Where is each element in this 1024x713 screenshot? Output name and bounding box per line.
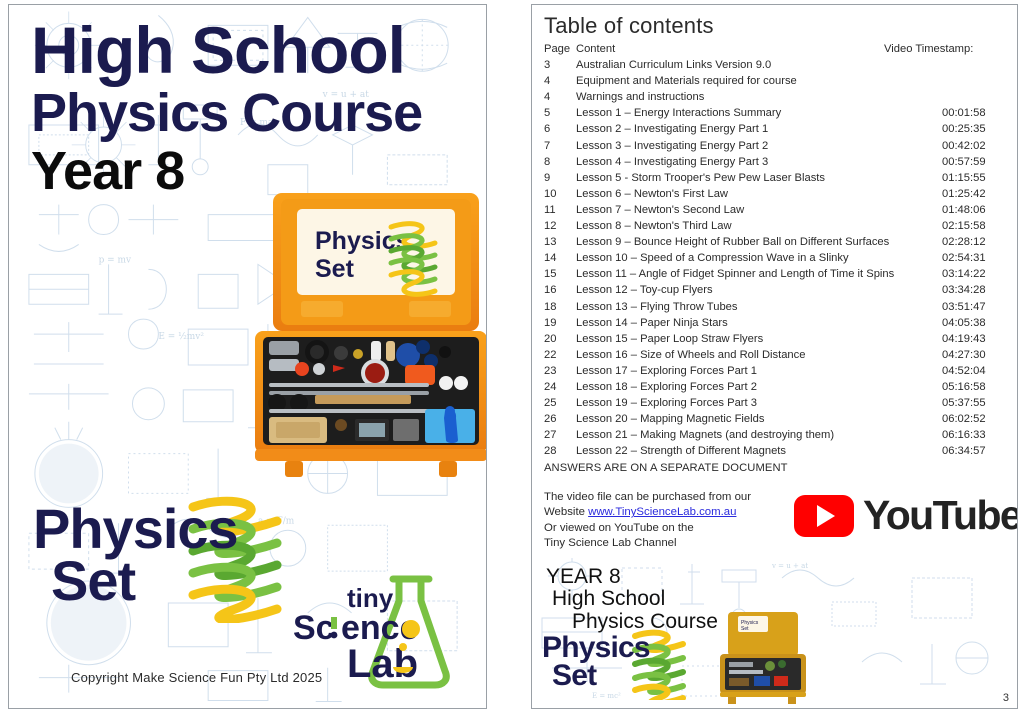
- svg-text:Sc: Sc: [293, 609, 335, 647]
- footer-title-line-1: YEAR 8: [546, 566, 718, 588]
- wordmark-line-2: Set: [51, 555, 263, 607]
- toc-row-timestamp: 00:25:35: [942, 123, 1004, 135]
- toc-row-timestamp: 04:05:38: [942, 317, 1004, 329]
- svg-text:E = ½mv²: E = ½mv²: [158, 331, 204, 342]
- toc-row-page: 16: [544, 284, 576, 296]
- toc-row[interactable]: 28Lesson 22 – Strength of Different Magn…: [544, 445, 1004, 461]
- toc-row-content: Lesson 11 – Angle of Fidget Spinner and …: [576, 268, 942, 280]
- toc-row-content: Lesson 6 – Newton's First Law: [576, 188, 942, 200]
- toc-row-page: 14: [544, 252, 576, 264]
- column-header-page: Page: [544, 43, 576, 55]
- cover-title-line-1: High School: [31, 19, 471, 82]
- document-spread: F = ma E = ½mv² a = F/m v = u + at p = m…: [0, 0, 1024, 713]
- youtube-wordmark: YouTube: [863, 492, 1018, 539]
- footer-kit-photo: Physics Set: [714, 606, 810, 706]
- toc-row-page: 20: [544, 333, 576, 345]
- footer-title-line-2: High School: [552, 588, 718, 610]
- purchase-line-4: Tiny Science Lab Channel: [544, 536, 751, 551]
- toc-row[interactable]: 16Lesson 12 – Toy-cup Flyers03:34:28: [544, 284, 1004, 300]
- youtube-play-icon: [794, 495, 854, 537]
- toc-row[interactable]: 5Lesson 1 – Energy Interactions Summary0…: [544, 107, 1004, 123]
- toc-row-page: 24: [544, 381, 576, 393]
- physics-set-kit-photo: Physics Set: [245, 187, 487, 487]
- toc-row[interactable]: 14Lesson 10 – Speed of a Compression Wav…: [544, 252, 1004, 268]
- toc-row[interactable]: 12Lesson 8 – Newton's Third Law02:15:58: [544, 220, 1004, 236]
- toc-row-timestamp: 06:02:52: [942, 413, 1004, 425]
- toc-row-timestamp: 01:15:55: [942, 172, 1004, 184]
- svg-text:Lab: Lab: [347, 642, 418, 686]
- toc-row-page: 23: [544, 365, 576, 377]
- toc-row-page: 22: [544, 349, 576, 361]
- toc-row-timestamp: 02:54:31: [942, 252, 1004, 264]
- toc-row-timestamp: 03:34:28: [942, 284, 1004, 296]
- purchase-line-1: The video file can be purchased from our: [544, 490, 751, 505]
- purchase-line-3: Or viewed on YouTube on the: [544, 521, 751, 536]
- toc-row[interactable]: 23Lesson 17 – Exploring Forces Part 104:…: [544, 365, 1004, 381]
- toc-row-timestamp: 00:57:59: [942, 156, 1004, 168]
- toc-row[interactable]: 20Lesson 15 – Paper Loop Straw Flyers04:…: [544, 333, 1004, 349]
- table-of-contents-page: Table of contents Page Content Video Tim…: [531, 4, 1018, 709]
- svg-text:p = mv: p = mv: [99, 255, 132, 265]
- answers-note: ANSWERS ARE ON A SEPARATE DOCUMENT: [544, 462, 1004, 474]
- toc-row-content: Lesson 14 – Paper Ninja Stars: [576, 317, 942, 329]
- wordmark-line-1: Physics: [33, 503, 263, 555]
- toc-row-content: Lesson 9 – Bounce Height of Rubber Ball …: [576, 236, 942, 248]
- toc-row-content: Lesson 10 – Speed of a Compression Wave …: [576, 252, 942, 264]
- toc-row-timestamp: 00:01:58: [942, 107, 1004, 119]
- toc-row[interactable]: 13Lesson 9 – Bounce Height of Rubber Bal…: [544, 236, 1004, 252]
- toc-row[interactable]: 8Lesson 4 – Investigating Energy Part 30…: [544, 156, 1004, 172]
- toc-row-timestamp: 06:16:33: [942, 429, 1004, 441]
- website-link[interactable]: www.TinyScienceLab.com.au: [588, 506, 736, 518]
- toc-row-timestamp: 04:27:30: [942, 349, 1004, 361]
- toc-row-timestamp: 00:42:02: [942, 140, 1004, 152]
- toc-row-timestamp: 03:51:47: [942, 301, 1004, 313]
- svg-text:Set: Set: [315, 255, 355, 283]
- toc-row-page: 15: [544, 268, 576, 280]
- toc-row[interactable]: 26Lesson 20 – Mapping Magnetic Fields06:…: [544, 413, 1004, 429]
- toc-row-content: Australian Curriculum Links Version 9.0: [576, 59, 942, 71]
- toc-row-content: Lesson 12 – Toy-cup Flyers: [576, 284, 942, 296]
- toc-row-timestamp: 01:25:42: [942, 188, 1004, 200]
- svg-text:E = mc²: E = mc²: [592, 692, 621, 700]
- toc-row-page: 25: [544, 397, 576, 409]
- toc-row-page: 4: [544, 75, 576, 87]
- toc-row-content: Lesson 22 – Strength of Different Magnet…: [576, 445, 942, 457]
- toc-row-content: Lesson 13 – Flying Throw Tubes: [576, 301, 942, 313]
- toc-row[interactable]: 3Australian Curriculum Links Version 9.0: [544, 59, 1004, 75]
- toc-row-content: Equipment and Materials required for cou…: [576, 75, 942, 87]
- toc-row-content: Lesson 4 – Investigating Energy Part 3: [576, 156, 942, 168]
- column-header-content: Content: [576, 43, 884, 55]
- svg-text:Set: Set: [741, 626, 749, 632]
- toc-row[interactable]: 6Lesson 2 – Investigating Energy Part 10…: [544, 123, 1004, 139]
- toc-row-content: Lesson 19 – Exploring Forces Part 3: [576, 397, 942, 409]
- toc-row[interactable]: 15Lesson 11 – Angle of Fidget Spinner an…: [544, 268, 1004, 284]
- toc-row-content: Lesson 21 – Making Magnets (and destroyi…: [576, 429, 942, 441]
- toc-row[interactable]: 4Warnings and instructions: [544, 91, 1004, 107]
- footer-wordmark-line-1: Physics: [542, 634, 650, 662]
- toc-row-content: Lesson 15 – Paper Loop Straw Flyers: [576, 333, 942, 345]
- toc-row[interactable]: 25Lesson 19 – Exploring Forces Part 305:…: [544, 397, 1004, 413]
- toc-table: Page Content Video Timestamp: 3Australia…: [544, 43, 1004, 474]
- youtube-logo: YouTube: [794, 492, 1018, 539]
- toc-row-timestamp: 04:19:43: [942, 333, 1004, 345]
- toc-row-timestamp: 03:14:22: [942, 268, 1004, 280]
- toc-row[interactable]: 11Lesson 7 – Newton's Second Law01:48:06: [544, 204, 1004, 220]
- toc-row-page: 27: [544, 429, 576, 441]
- toc-row-content: Lesson 16 – Size of Wheels and Roll Dist…: [576, 349, 942, 361]
- purchase-info: The video file can be purchased from our…: [544, 490, 751, 552]
- physics-set-wordmark: Physics Set: [33, 503, 263, 606]
- toc-row-page: 9: [544, 172, 576, 184]
- toc-row-page: 3: [544, 59, 576, 71]
- toc-row-content: Lesson 20 – Mapping Magnetic Fields: [576, 413, 942, 425]
- toc-row[interactable]: 18Lesson 13 – Flying Throw Tubes03:51:47: [544, 301, 1004, 317]
- column-header-timestamp: Video Timestamp:: [884, 43, 1004, 55]
- toc-header-row: Page Content Video Timestamp:: [544, 43, 1004, 59]
- footer-wordmark-line-2: Set: [552, 662, 650, 690]
- toc-row-content: Lesson 1 – Energy Interactions Summary: [576, 107, 942, 119]
- website-prefix: Website: [544, 506, 588, 518]
- toc-row-page: 19: [544, 317, 576, 329]
- toc-row-timestamp: 01:48:06: [942, 204, 1004, 216]
- cover-title-line-2: Physics Course: [31, 88, 471, 140]
- toc-row-page: 28: [544, 445, 576, 457]
- toc-row-page: 8: [544, 156, 576, 168]
- toc-row[interactable]: 22Lesson 16 – Size of Wheels and Roll Di…: [544, 349, 1004, 365]
- toc-row-content: Lesson 5 - Storm Trooper's Pew Pew Laser…: [576, 172, 942, 184]
- footer-cover-title: YEAR 8 High School Physics Course: [546, 566, 718, 633]
- toc-row-page: 26: [544, 413, 576, 425]
- purchase-line-2: Website www.TinyScienceLab.com.au: [544, 505, 751, 520]
- toc-row-page: 5: [544, 107, 576, 119]
- toc-row-timestamp: 05:37:55: [942, 397, 1004, 409]
- toc-row-page: 12: [544, 220, 576, 232]
- toc-row[interactable]: 27Lesson 21 – Making Magnets (and destro…: [544, 429, 1004, 445]
- cover-page: F = ma E = ½mv² a = F/m v = u + at p = m…: [8, 4, 487, 709]
- toc-row-timestamp: 02:28:12: [942, 236, 1004, 248]
- footer-cover-strip: v = u + atE = mc² YEAR 8 High School Phy…: [532, 558, 1017, 708]
- toc-row[interactable]: 24Lesson 18 – Exploring Forces Part 205:…: [544, 381, 1004, 397]
- toc-row-page: 4: [544, 91, 576, 103]
- toc-row-timestamp: 02:15:58: [942, 220, 1004, 232]
- toc-row-timestamp: 04:52:04: [942, 365, 1004, 377]
- cover-title: High School Physics Course Year 8: [31, 19, 471, 198]
- toc-row-content: Lesson 17 – Exploring Forces Part 1: [576, 365, 942, 377]
- toc-row-page: 11: [544, 204, 576, 216]
- page-title: Table of contents: [544, 13, 714, 39]
- toc-row-timestamp: 05:16:58: [942, 381, 1004, 393]
- toc-row-content: Warnings and instructions: [576, 91, 942, 103]
- toc-row-page: 7: [544, 140, 576, 152]
- toc-row[interactable]: 10Lesson 6 – Newton's First Law01:25:42: [544, 188, 1004, 204]
- page-number: 3: [1003, 692, 1009, 704]
- toc-row-timestamp: 06:34:57: [942, 445, 1004, 457]
- toc-row[interactable]: 4Equipment and Materials required for co…: [544, 75, 1004, 91]
- toc-rows: 3Australian Curriculum Links Version 9.0…: [544, 59, 1004, 461]
- toc-row-content: Lesson 18 – Exploring Forces Part 2: [576, 381, 942, 393]
- toc-row-content: Lesson 8 – Newton's Third Law: [576, 220, 942, 232]
- toc-row-page: 13: [544, 236, 576, 248]
- copyright-text: Copyright Make Science Fun Pty Ltd 2025: [71, 670, 322, 685]
- toc-row-page: 10: [544, 188, 576, 200]
- toc-row-page: 6: [544, 123, 576, 135]
- svg-text:v = u + at: v = u + at: [771, 562, 808, 570]
- toc-row-content: Lesson 3 – Investigating Energy Part 2: [576, 140, 942, 152]
- toc-row[interactable]: 9Lesson 5 - Storm Trooper's Pew Pew Lase…: [544, 172, 1004, 188]
- toc-row[interactable]: 19Lesson 14 – Paper Ninja Stars04:05:38: [544, 317, 1004, 333]
- toc-row[interactable]: 7Lesson 3 – Investigating Energy Part 20…: [544, 140, 1004, 156]
- toc-row-content: Lesson 2 – Investigating Energy Part 1: [576, 123, 942, 135]
- toc-row-content: Lesson 7 – Newton's Second Law: [576, 204, 942, 216]
- footer-physics-set-wordmark: Physics Set: [542, 634, 650, 689]
- toc-row-page: 18: [544, 301, 576, 313]
